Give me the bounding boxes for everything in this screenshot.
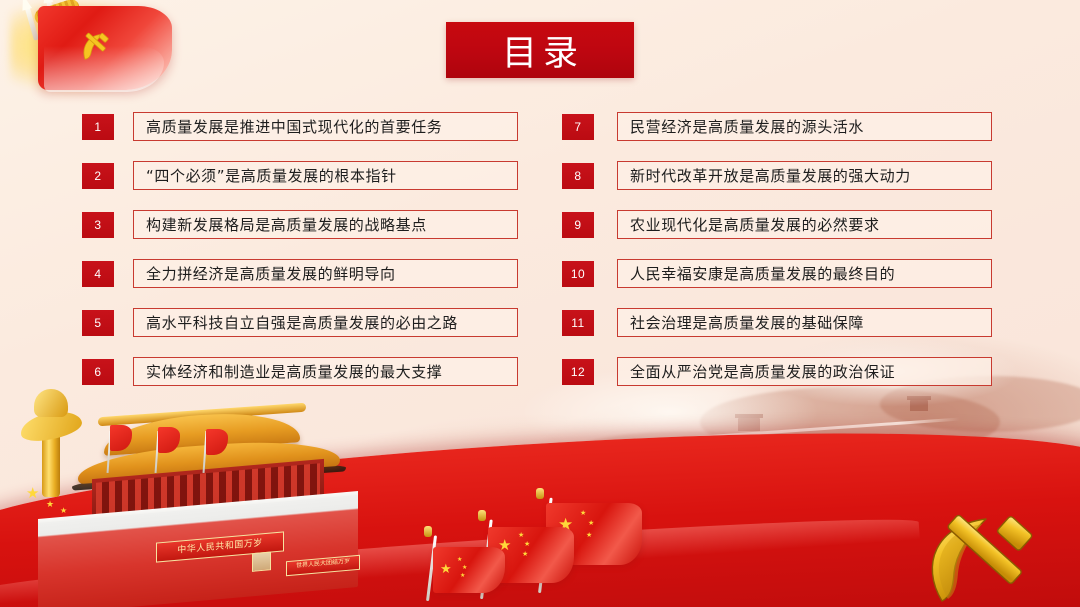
watchtower [738, 418, 760, 431]
chinese-national-flags: ★ ★ ★ ★ ★ ★ ★ ★ ★ ★ ★ ★ [420, 489, 670, 601]
great-wall-line [660, 418, 959, 442]
toc-item-label: 全力拼经济是高质量发展的鲜明导向 [134, 263, 396, 284]
tiananmen-gate: 中华人民共和国万岁 世界人民大团结万岁 ★ ★ ★ [38, 391, 368, 601]
toc-item[interactable]: 9 农业现代化是高质量发展的必然要求 [562, 210, 1002, 240]
toc-item-box[interactable]: 民营经济是高质量发展的源头活水 [617, 112, 992, 141]
toc-item-label: 农业现代化是高质量发展的必然要求 [618, 214, 880, 235]
toc-item-box[interactable]: 社会治理是高质量发展的基础保障 [617, 308, 992, 337]
toc-item-number: 5 [82, 310, 114, 336]
gold-star-icon: ★ [457, 557, 462, 563]
toc-item-label: 民营经济是高质量发展的源头活水 [618, 116, 864, 137]
toc-item-box[interactable]: “四个必须”是高质量发展的根本指针 [133, 161, 518, 190]
gold-star-icon: ★ [26, 486, 39, 501]
hammer-and-sickle-icon [76, 28, 118, 68]
toc-item-number: 11 [562, 310, 594, 336]
toc-item-label: 新时代改革开放是高质量发展的强大动力 [618, 165, 911, 186]
toc-item-box[interactable]: 全面从严治党是高质量发展的政治保证 [617, 357, 992, 386]
slide-title-banner: 目录 [446, 22, 634, 78]
toc-item-number: 9 [562, 212, 594, 238]
toc-item-number: 1 [82, 114, 114, 140]
toc-item-number: 10 [562, 261, 594, 287]
mountain-ridge [560, 431, 820, 487]
flag-finial [424, 526, 432, 537]
toc-item[interactable]: 2 “四个必须”是高质量发展的根本指针 [82, 161, 522, 191]
toc-item-label: 实体经济和制造业是高质量发展的最大支撑 [134, 361, 442, 382]
page-title: 目录 [496, 25, 584, 76]
toc-item[interactable]: 1 高质量发展是推进中国式现代化的首要任务 [82, 112, 522, 142]
gold-star-icon: ★ [60, 507, 67, 515]
toc-item-box[interactable]: 全力拼经济是高质量发展的鲜明导向 [133, 259, 518, 288]
toc-item[interactable]: 3 构建新发展格局是高质量发展的战略基点 [82, 210, 522, 240]
gold-star-icon: ★ [460, 573, 465, 579]
flag-finial [536, 488, 544, 499]
toc-item-box[interactable]: 高质量发展是推进中国式现代化的首要任务 [133, 112, 518, 141]
watchtower [920, 467, 940, 479]
table-of-contents: 1 高质量发展是推进中国式现代化的首要任务 2 “四个必须”是高质量发展的根本指… [0, 112, 1080, 402]
flag-finial [478, 510, 486, 521]
toc-item-number: 8 [562, 163, 594, 189]
toc-item-label: 人民幸福安康是高质量发展的最终目的 [618, 263, 895, 284]
toc-item-label: 高质量发展是推进中国式现代化的首要任务 [134, 116, 442, 137]
toc-item-number: 7 [562, 114, 594, 140]
toc-item-label: 全面从严治党是高质量发展的政治保证 [618, 361, 895, 382]
toc-item-number: 4 [82, 261, 114, 287]
toc-item-label: 构建新发展格局是高质量发展的战略基点 [134, 214, 427, 235]
toc-item-box[interactable]: 高水平科技自立自强是高质量发展的必由之路 [133, 308, 518, 337]
toc-item-number: 3 [82, 212, 114, 238]
toc-item[interactable]: 4 全力拼经济是高质量发展的鲜明导向 [82, 259, 522, 289]
toc-item-label: 社会治理是高质量发展的基础保障 [618, 312, 864, 333]
party-emblem-hammer-sickle [912, 509, 1062, 605]
toc-item-box[interactable]: 农业现代化是高质量发展的必然要求 [617, 210, 992, 239]
gold-star-icon: ★ [580, 510, 586, 517]
toc-item[interactable]: 12 全面从严治党是高质量发展的政治保证 [562, 357, 1002, 387]
toc-item-box[interactable]: 新时代改革开放是高质量发展的强大动力 [617, 161, 992, 190]
toc-item-label: “四个必须”是高质量发展的根本指针 [134, 165, 397, 186]
gold-star-icon: ★ [462, 565, 467, 571]
toc-item[interactable]: 10 人民幸福安康是高质量发展的最终目的 [562, 259, 1002, 289]
cpc-party-flag [4, 0, 194, 112]
toc-item-number: 2 [82, 163, 114, 189]
toc-item[interactable]: 6 实体经济和制造业是高质量发展的最大支撑 [82, 357, 522, 387]
gold-star-icon: ★ [588, 520, 594, 527]
presentation-slide: 中华人民共和国万岁 世界人民大团结万岁 ★ ★ ★ ★ ★ ★ ★ ★ [0, 0, 1080, 607]
gold-star-icon: ★ [524, 541, 530, 548]
gold-star-icon: ★ [46, 500, 54, 509]
toc-item-box[interactable]: 人民幸福安康是高质量发展的最终目的 [617, 259, 992, 288]
toc-item[interactable]: 5 高水平科技自立自强是高质量发展的必由之路 [82, 308, 522, 338]
gold-star-icon: ★ [586, 532, 592, 539]
toc-item-box[interactable]: 构建新发展格局是高质量发展的战略基点 [133, 210, 518, 239]
toc-item-number: 6 [82, 359, 114, 385]
gold-star-icon: ★ [522, 551, 528, 558]
toc-item-box[interactable]: 实体经济和制造业是高质量发展的最大支撑 [133, 357, 518, 386]
toc-item[interactable]: 7 民营经济是高质量发展的源头活水 [562, 112, 1002, 142]
gold-star-icon: ★ [518, 532, 524, 539]
toc-item-label: 高水平科技自立自强是高质量发展的必由之路 [134, 312, 458, 333]
toc-item[interactable]: 11 社会治理是高质量发展的基础保障 [562, 308, 1002, 338]
toc-item-number: 12 [562, 359, 594, 385]
toc-item[interactable]: 8 新时代改革开放是高质量发展的强大动力 [562, 161, 1002, 191]
gold-star-icon: ★ [440, 562, 452, 575]
